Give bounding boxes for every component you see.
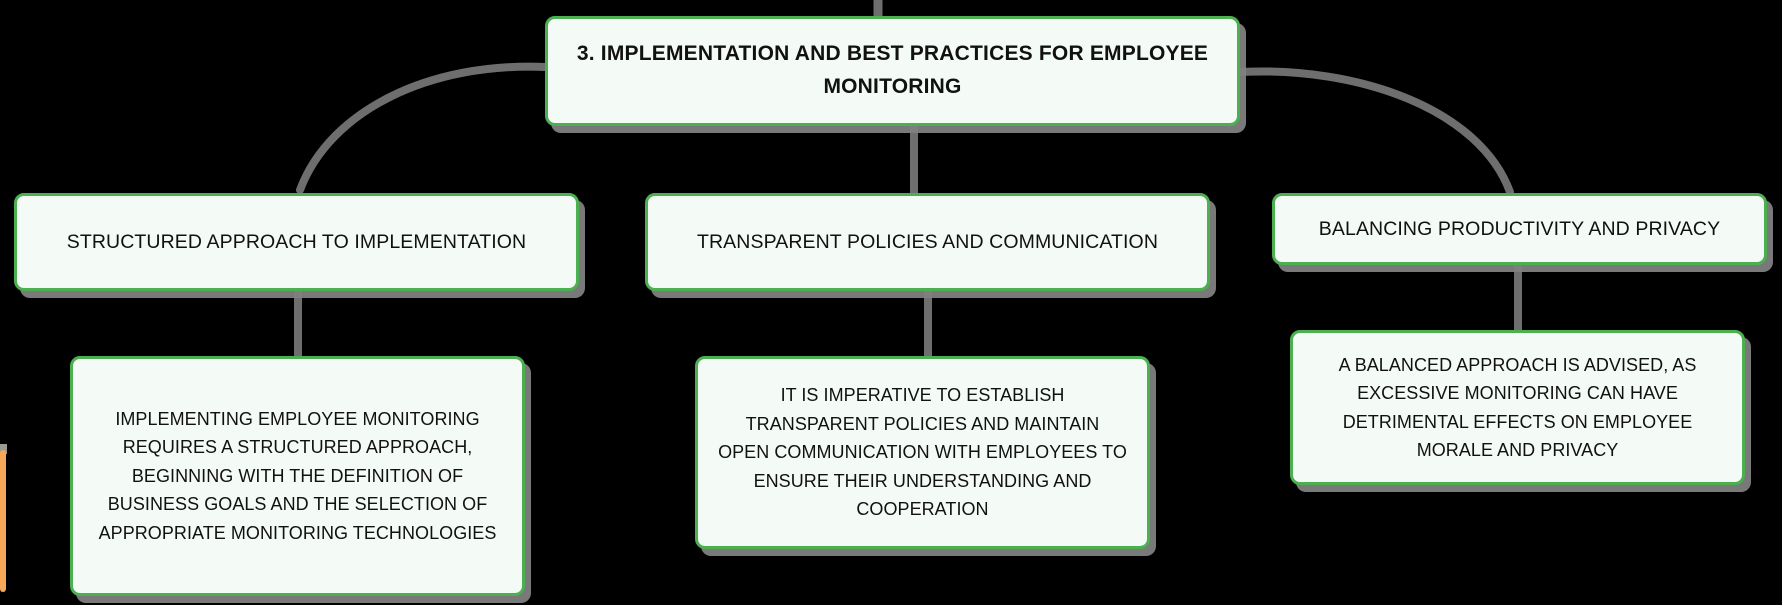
branch-node-label: BALANCING PRODUCTIVITY AND PRIVACY (1319, 215, 1720, 243)
detail-node-structured-approach[interactable]: IMPLEMENTING EMPLOYEE MONITORING REQUIRE… (70, 356, 525, 596)
mindmap-canvas: 3. IMPLEMENTATION AND BEST PRACTICES FOR… (0, 0, 1782, 605)
connector-root-to-branch-3 (1240, 71, 1510, 192)
branch-node-transparent-policies[interactable]: TRANSPARENT POLICIES AND COMMUNICATION (645, 193, 1210, 291)
left-edge-accent-marker[interactable] (0, 450, 6, 592)
branch-node-label: TRANSPARENT POLICIES AND COMMUNICATION (697, 228, 1158, 256)
branch-node-label: STRUCTURED APPROACH TO IMPLEMENTATION (67, 228, 526, 256)
branch-node-balancing-productivity[interactable]: BALANCING PRODUCTIVITY AND PRIVACY (1272, 193, 1767, 265)
detail-node-text: A BALANCED APPROACH IS ADVISED, AS EXCES… (1313, 351, 1722, 465)
root-node[interactable]: 3. IMPLEMENTATION AND BEST PRACTICES FOR… (545, 16, 1240, 126)
connector-root-to-branch-1 (300, 67, 545, 190)
root-node-label: 3. IMPLEMENTATION AND BEST PRACTICES FOR… (574, 38, 1211, 103)
detail-node-text: IT IS IMPERATIVE TO ESTABLISH TRANSPAREN… (718, 381, 1127, 523)
detail-node-balancing-productivity[interactable]: A BALANCED APPROACH IS ADVISED, AS EXCES… (1290, 330, 1745, 485)
detail-node-text: IMPLEMENTING EMPLOYEE MONITORING REQUIRE… (93, 405, 502, 547)
branch-node-structured-approach[interactable]: STRUCTURED APPROACH TO IMPLEMENTATION (14, 193, 579, 291)
detail-node-transparent-policies[interactable]: IT IS IMPERATIVE TO ESTABLISH TRANSPAREN… (695, 356, 1150, 549)
